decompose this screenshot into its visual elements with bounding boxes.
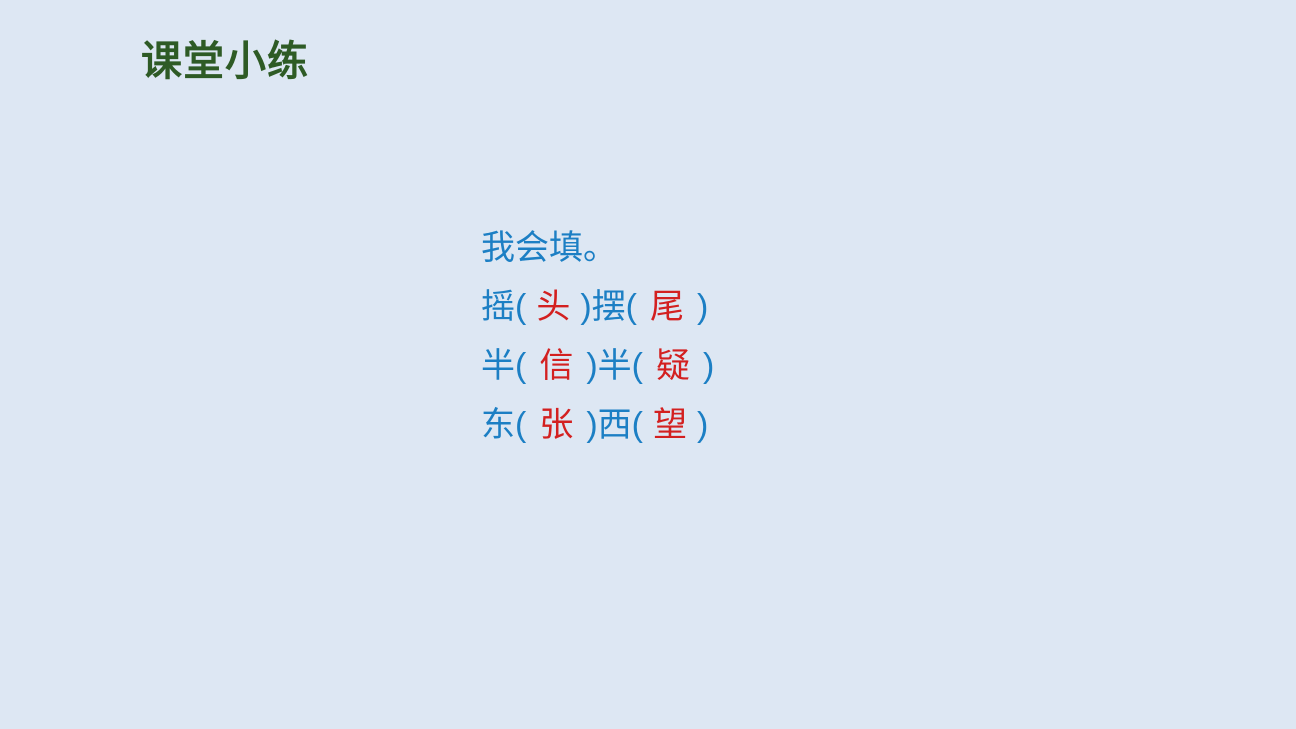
idiom-3-close-paren-1: )	[586, 406, 597, 444]
idiom-3-char-2: 西	[598, 406, 632, 444]
idiom-row-1: 摇(头)摆(尾)	[481, 278, 1001, 337]
idiom-1-close-paren-1: )	[580, 288, 591, 326]
idiom-2-answer-1: 信	[526, 347, 586, 385]
idiom-2-open-paren-1: (	[515, 347, 526, 385]
idiom-1-close-paren-2: )	[697, 288, 708, 326]
idiom-1-char-2: 摆	[592, 288, 626, 326]
idiom-2-answer-2: 疑	[643, 347, 703, 385]
idiom-2-char-1: 半	[481, 347, 515, 385]
exercise-prompt: 我会填。	[481, 219, 1001, 278]
idiom-1-char-1: 摇	[481, 288, 515, 326]
idiom-3-char-1: 东	[481, 406, 515, 444]
idiom-row-3: 东(张)西(望)	[481, 396, 1001, 455]
idiom-3-open-paren-1: (	[515, 406, 526, 444]
idiom-row-2: 半(信)半(疑)	[481, 337, 1001, 396]
idiom-3-answer-2: 望	[643, 406, 697, 444]
idiom-2-char-2: 半	[598, 347, 632, 385]
idiom-1-answer-1: 头	[526, 288, 580, 326]
idiom-1-open-paren-2: (	[626, 288, 637, 326]
slide-canvas: 课堂小练 我会填。 摇(头)摆(尾) 半(信)半(疑) 东(张)西(望)	[0, 0, 1296, 729]
exercise-block: 我会填。 摇(头)摆(尾) 半(信)半(疑) 东(张)西(望)	[481, 219, 1001, 455]
idiom-2-close-paren-1: )	[586, 347, 597, 385]
idiom-3-close-paren-2: )	[697, 406, 708, 444]
idiom-3-answer-1: 张	[526, 406, 586, 444]
idiom-2-close-paren-2: )	[703, 347, 714, 385]
idiom-3-open-paren-2: (	[632, 406, 643, 444]
idiom-2-open-paren-2: (	[632, 347, 643, 385]
page-title: 课堂小练	[141, 37, 309, 85]
idiom-1-answer-2: 尾	[637, 288, 697, 326]
idiom-1-open-paren-1: (	[515, 288, 526, 326]
